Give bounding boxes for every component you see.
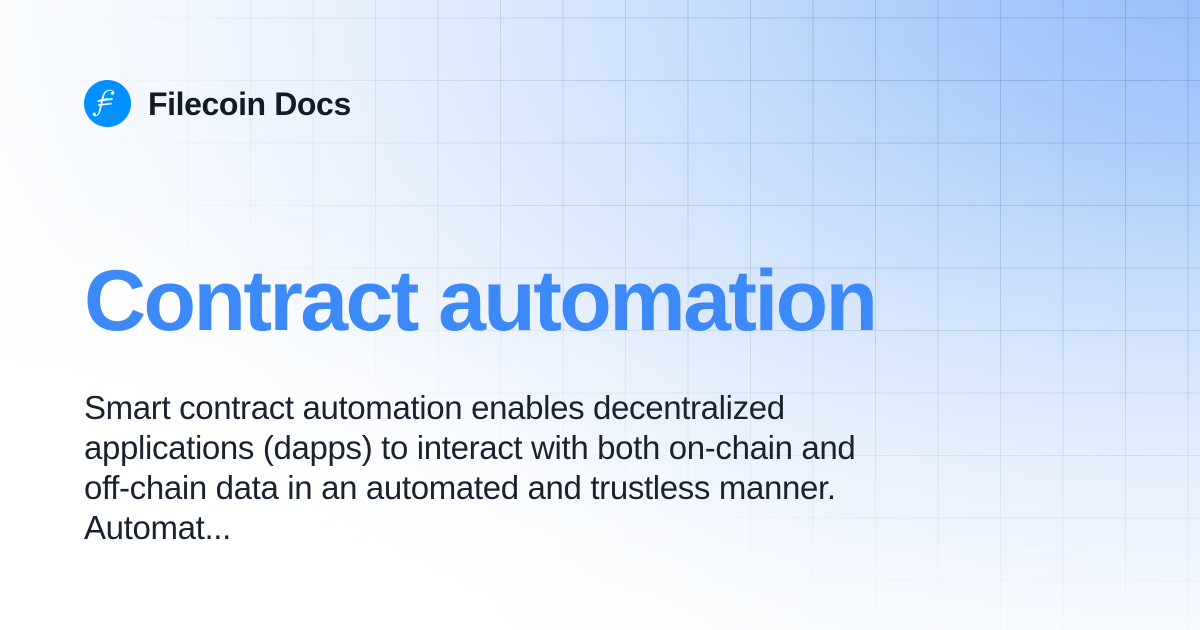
page-description: Smart contract automation enables decent… <box>84 388 874 548</box>
og-card: Filecoin Docs Contract automation Smart … <box>0 0 1200 630</box>
page-title: Contract automation <box>84 258 1144 346</box>
filecoin-logo-icon <box>84 80 131 127</box>
brand-name-label: Filecoin Docs <box>148 88 351 120</box>
card-content: Filecoin Docs Contract automation Smart … <box>0 0 1200 630</box>
brand-header: Filecoin Docs <box>84 80 351 127</box>
